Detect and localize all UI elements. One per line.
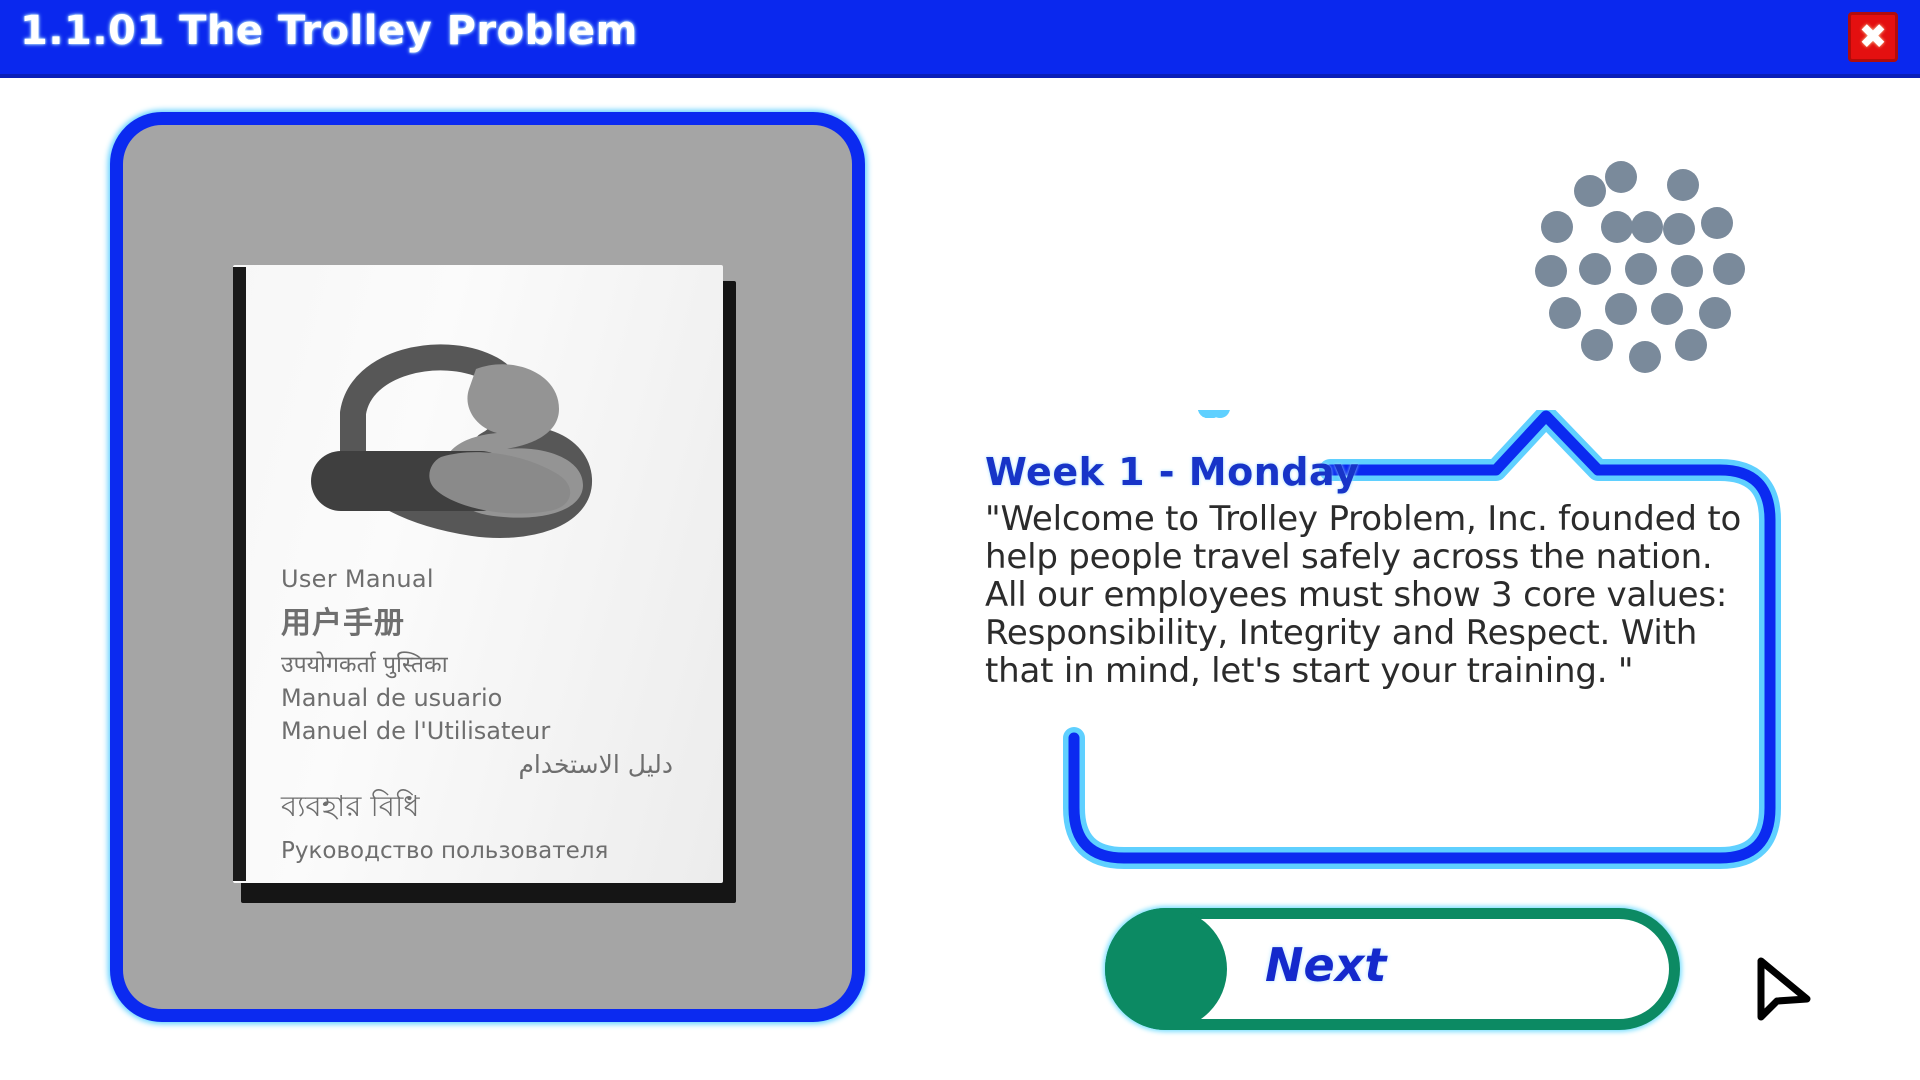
next-button-label: Next: [1265, 938, 1386, 992]
dot-cluster-logo-icon: [1535, 155, 1755, 375]
close-button[interactable]: ✖: [1848, 12, 1898, 62]
book-spine: [233, 267, 246, 881]
manual-lang-ru: Руководство пользователя: [281, 838, 701, 864]
game-screen: 1.1.01 The Trolley Problem ✖: [0, 0, 1920, 1080]
user-manual-book[interactable]: User Manual 用户手册 उपयोगकर्ता पुस्तिका Man…: [233, 265, 743, 905]
manual-lang-en: User Manual: [281, 565, 701, 593]
next-button-knob: [1105, 908, 1227, 1030]
manual-lang-hi: उपयोगकर्ता पुस्तिका: [281, 647, 701, 679]
page-title: 1.1.01 The Trolley Problem: [20, 8, 638, 54]
manual-lang-bn: ব্যবহার বিধি: [281, 784, 701, 833]
manual-lang-es: Manual de usuario: [281, 684, 701, 712]
manual-display-panel: User Manual 用户手册 उपयोगकर्ता पुस्तिका Man…: [110, 112, 865, 1022]
mouse-pointer-icon: [1755, 955, 1815, 1030]
abstract-trolley-logo-icon: [291, 317, 621, 567]
dialogue-content: Week 1 - Monday "Welcome to Trolley Prob…: [985, 450, 1815, 690]
title-bar: 1.1.01 The Trolley Problem ✖: [0, 0, 1920, 78]
manual-lang-zh: 用户手册: [281, 598, 701, 642]
book-cover: User Manual 用户手册 उपयोगकर्ता पुस्तिका Man…: [233, 265, 723, 883]
manual-lang-ar: دليل الاستخدام: [281, 750, 701, 779]
close-icon: ✖: [1859, 20, 1888, 54]
manual-language-list: User Manual 用户手册 उपयोगकर्ता पुस्तिका Man…: [281, 565, 701, 869]
dialogue-body-text: "Welcome to Trolley Problem, Inc. founde…: [985, 500, 1815, 690]
manual-lang-fr: Manuel de l'Utilisateur: [281, 717, 701, 745]
next-button[interactable]: Next: [1105, 908, 1680, 1030]
week-day-heading: Week 1 - Monday: [985, 450, 1815, 494]
